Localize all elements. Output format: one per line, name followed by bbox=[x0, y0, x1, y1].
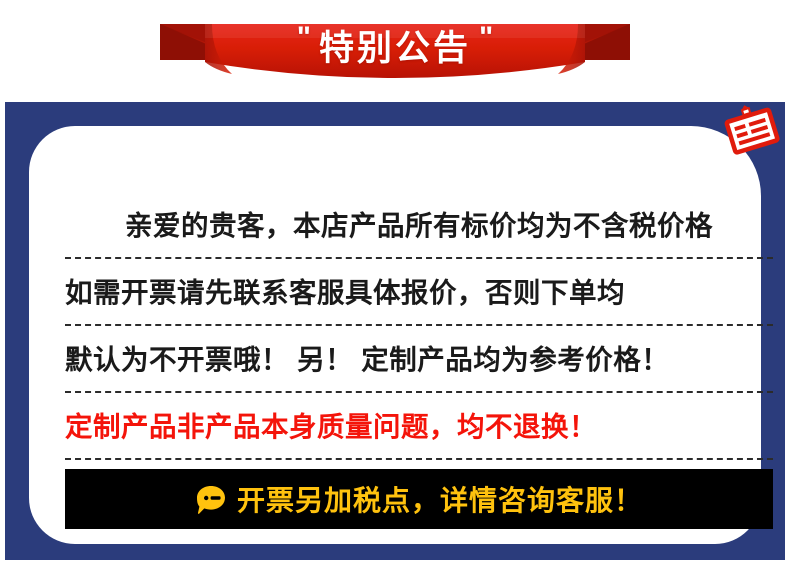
ribbon-shape bbox=[0, 8, 790, 98]
navy-frame: 亲爱的贵客，本店产品所有标价均为不含税价格 如需开票请先联系客服具体报价，否则下… bbox=[5, 102, 785, 560]
notice-line-1: 亲爱的贵客，本店产品所有标价均为不含税价格 bbox=[65, 192, 773, 259]
announcement-banner-image: " 特别公告 " 亲爱的贵客，本店产品所有标价均为不含税价格 如需开票请先联系客… bbox=[0, 0, 790, 577]
white-content-panel: 亲爱的贵客，本店产品所有标价均为不含税价格 如需开票请先联系客服具体报价，否则下… bbox=[29, 126, 761, 544]
notice-text-block: 亲爱的贵客，本店产品所有标价均为不含税价格 如需开票请先联系客服具体报价，否则下… bbox=[65, 192, 773, 460]
notice-line-2: 如需开票请先联系客服具体报价，否则下单均 bbox=[65, 259, 773, 326]
footer-callout-bar: 开票另加税点，详情咨询客服！ bbox=[65, 469, 773, 529]
notice-line-4-text: 定制产品非产品本身质量问题，均不退换！ bbox=[65, 404, 773, 448]
notice-line-3: 默认为不开票哦！ 另！ 定制产品均为参考价格！ bbox=[65, 326, 773, 393]
chat-bubble-icon bbox=[195, 484, 227, 516]
notice-line-4-warning: 定制产品非产品本身质量问题，均不退换！ bbox=[65, 393, 773, 460]
footer-text: 开票另加税点，详情咨询客服！ bbox=[237, 479, 643, 519]
notice-line-2-text: 如需开票请先联系客服具体报价，否则下单均 bbox=[65, 270, 773, 314]
notice-line-1-text: 亲爱的贵客，本店产品所有标价均为不含税价格 bbox=[65, 203, 773, 247]
ribbon-banner: " 特别公告 " bbox=[0, 8, 790, 98]
notice-line-3-text: 默认为不开票哦！ 另！ 定制产品均为参考价格！ bbox=[65, 337, 773, 381]
